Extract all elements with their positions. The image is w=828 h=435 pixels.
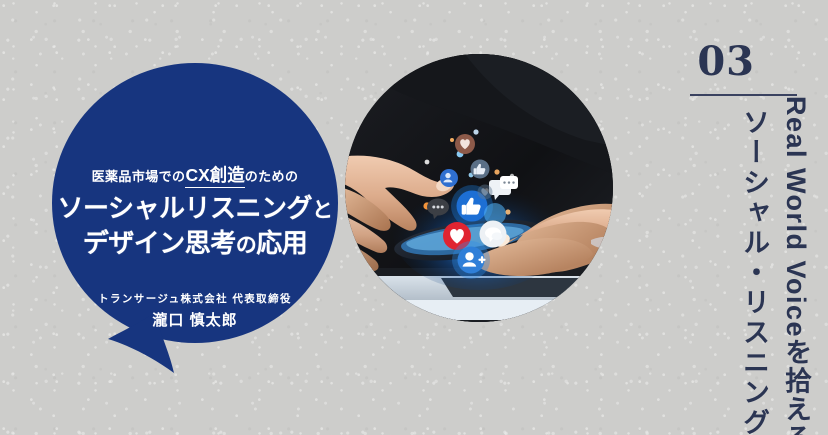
section-number: 03 <box>697 42 755 82</box>
slide-canvas: 医薬品市場でのCX創造のための ソーシャルリスニングと デザイン思考の応用 トラ… <box>0 0 828 435</box>
section-title-vertical-left: ソーシャル・リスニング <box>740 108 767 435</box>
section-marker: 03 Real World Voiceを拾える ソーシャル・リスニング <box>640 30 815 410</box>
speech-bubble-shape <box>40 55 350 385</box>
heart-icon <box>455 134 475 154</box>
photo-circle <box>345 54 613 322</box>
thumbs-up-icon <box>471 160 490 179</box>
heart-icon <box>478 185 493 200</box>
add-user-icon <box>452 241 490 279</box>
add-user-icon <box>440 169 458 187</box>
photo-illustration <box>345 54 613 322</box>
section-title-vertical-right: Real World Voiceを拾える <box>782 96 809 435</box>
chat-bubble-icon <box>480 221 507 248</box>
